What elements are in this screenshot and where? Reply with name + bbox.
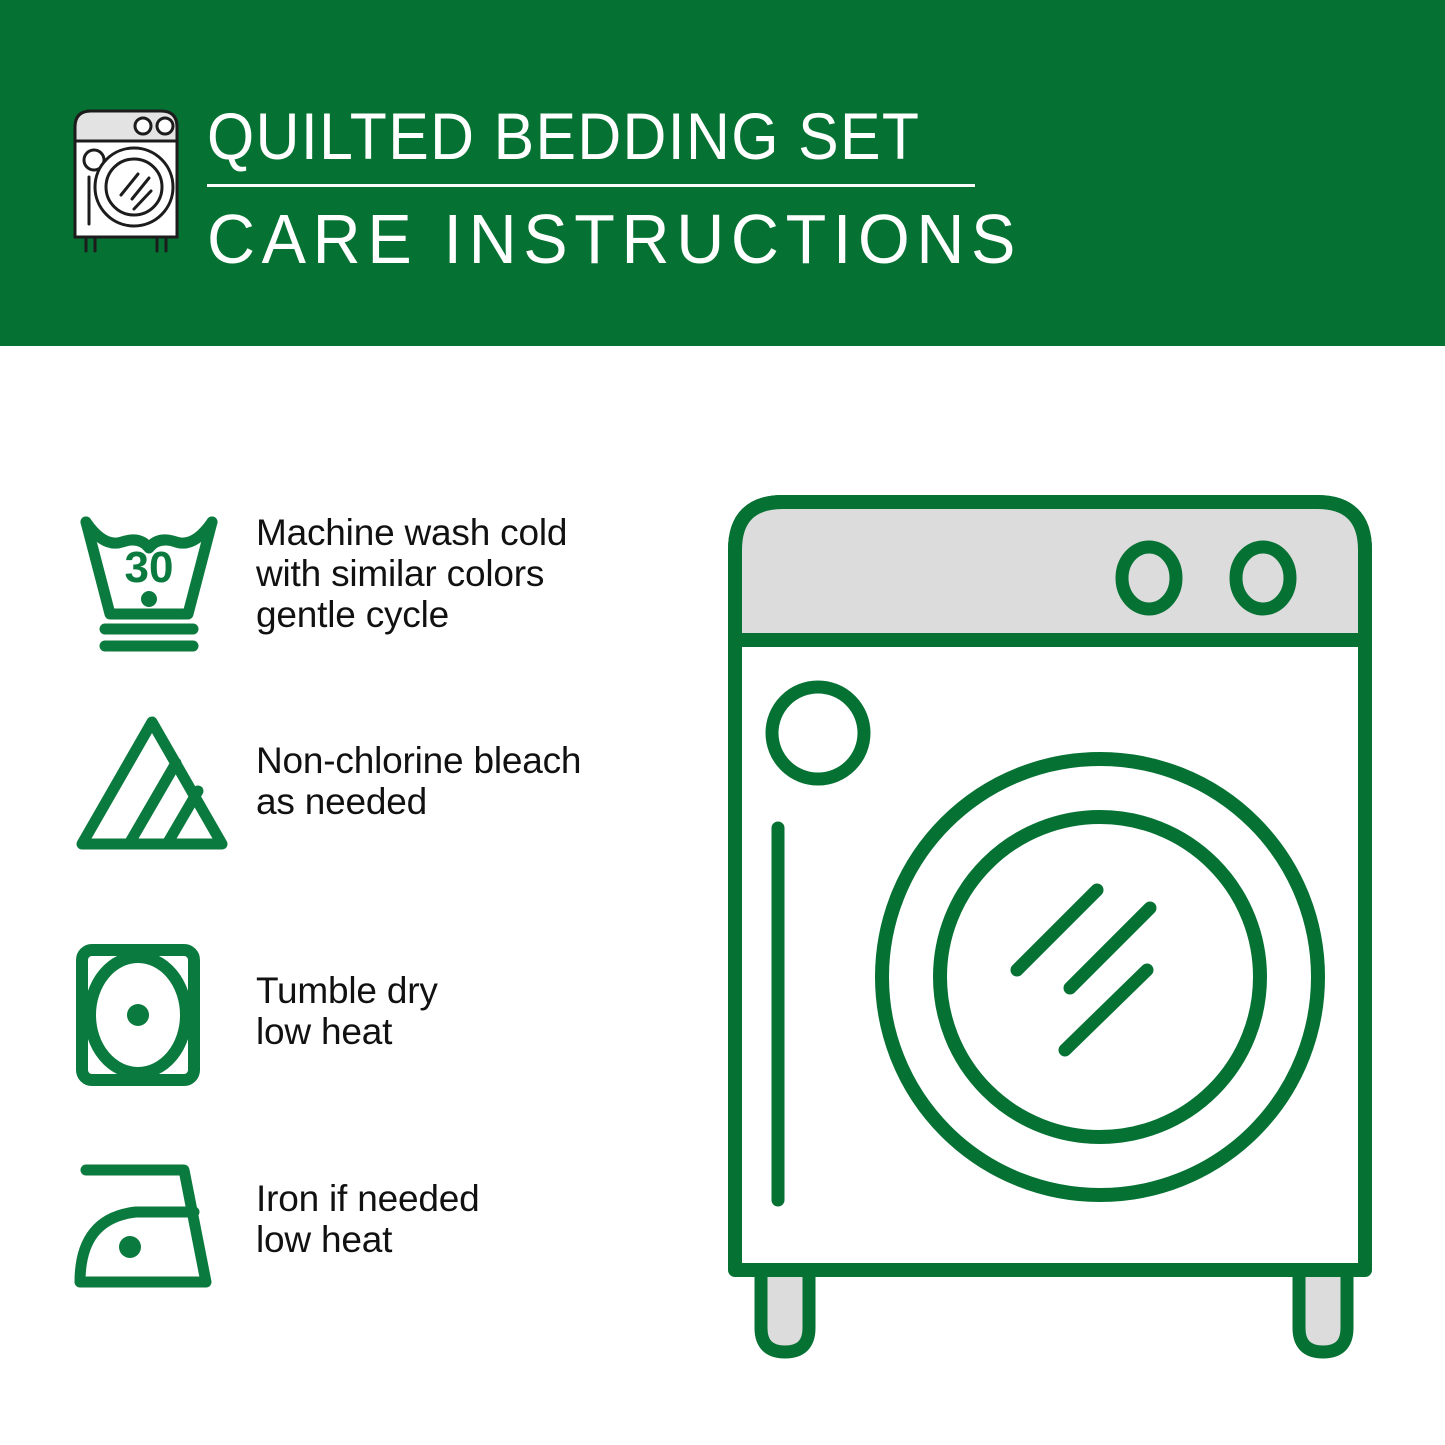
- page-subtitle: CARE INSTRUCTIONS: [207, 201, 958, 277]
- bleach-triangle-icon: [64, 710, 234, 865]
- care-label-line: as needed: [256, 781, 581, 822]
- care-row-machine-wash: 30 Machine wash cold with similar colors…: [64, 500, 684, 665]
- care-label-line: Tumble dry: [256, 970, 438, 1011]
- care-row-tumble-dry: Tumble dry low heat: [64, 940, 684, 1095]
- care-label-line: gentle cycle: [256, 594, 567, 635]
- svg-text:30: 30: [125, 543, 174, 592]
- care-label-iron: Iron if needed low heat: [234, 1148, 479, 1260]
- header-band: QUILTED BEDDING SET CARE INSTRUCTIONS: [0, 0, 1445, 346]
- care-label-machine-wash: Machine wash cold with similar colors ge…: [234, 500, 567, 635]
- header-text-block: QUILTED BEDDING SET CARE INSTRUCTIONS: [207, 100, 997, 277]
- header-divider: [207, 184, 975, 187]
- washing-machine-icon: [64, 99, 188, 254]
- page-title: QUILTED BEDDING SET: [207, 100, 934, 172]
- care-label-tumble-dry: Tumble dry low heat: [234, 940, 438, 1052]
- care-label-line: low heat: [256, 1011, 438, 1052]
- care-row-iron: Iron if needed low heat: [64, 1148, 684, 1303]
- care-label-line: with similar colors: [256, 553, 567, 594]
- care-label-line: low heat: [256, 1219, 479, 1260]
- care-row-bleach: Non-chlorine bleach as needed: [64, 710, 684, 865]
- care-label-line: Non-chlorine bleach: [256, 740, 581, 781]
- care-instructions-infographic: QUILTED BEDDING SET CARE INSTRUCTIONS 30…: [0, 0, 1445, 1445]
- care-label-line: Iron if needed: [256, 1178, 479, 1219]
- care-label-line: Machine wash cold: [256, 512, 567, 553]
- care-label-bleach: Non-chlorine bleach as needed: [234, 710, 581, 822]
- iron-icon: [64, 1148, 234, 1303]
- wash-tub-30-icon: 30: [64, 500, 234, 665]
- washing-machine-illustration: [715, 480, 1405, 1370]
- tumble-dry-icon: [64, 940, 234, 1095]
